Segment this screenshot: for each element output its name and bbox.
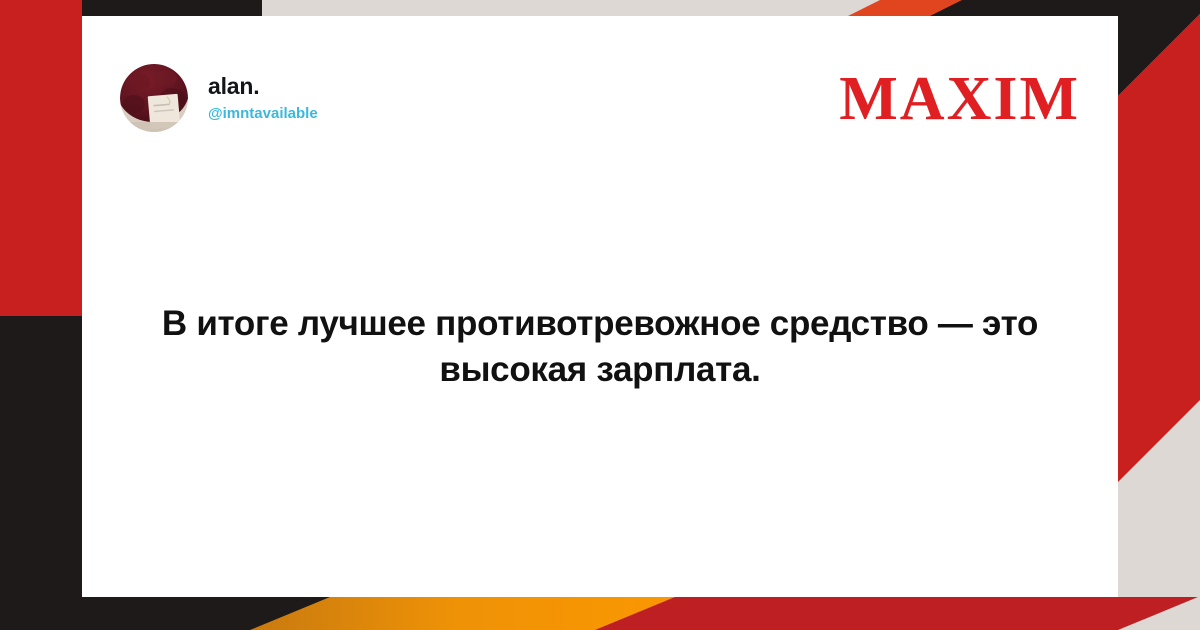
quote-text: В итоге лучшее противотревожное средство… [142, 301, 1058, 393]
top-grey-band [262, 0, 882, 16]
card-header: alan. @imntavailable MAXIM [82, 16, 1118, 156]
left-red-block [0, 0, 82, 316]
screenshot-canvas: alan. @imntavailable MAXIM В итоге лучше… [0, 0, 1200, 630]
author-text-block: alan. @imntavailable [208, 73, 318, 122]
brand-logo: MAXIM [839, 68, 1080, 130]
quote-card: alan. @imntavailable MAXIM В итоге лучше… [82, 16, 1118, 597]
left-dark-block [0, 316, 82, 630]
display-name: alan. [208, 73, 318, 99]
bottom-red-band [595, 597, 1200, 630]
handle[interactable]: @imntavailable [208, 105, 318, 123]
tweet-author[interactable]: alan. @imntavailable [120, 64, 318, 132]
right-red-diagonal [1118, 14, 1200, 482]
avatar-photo-icon[interactable] [120, 64, 188, 132]
quote-block: В итоге лучшее противотревожное средство… [142, 301, 1058, 393]
